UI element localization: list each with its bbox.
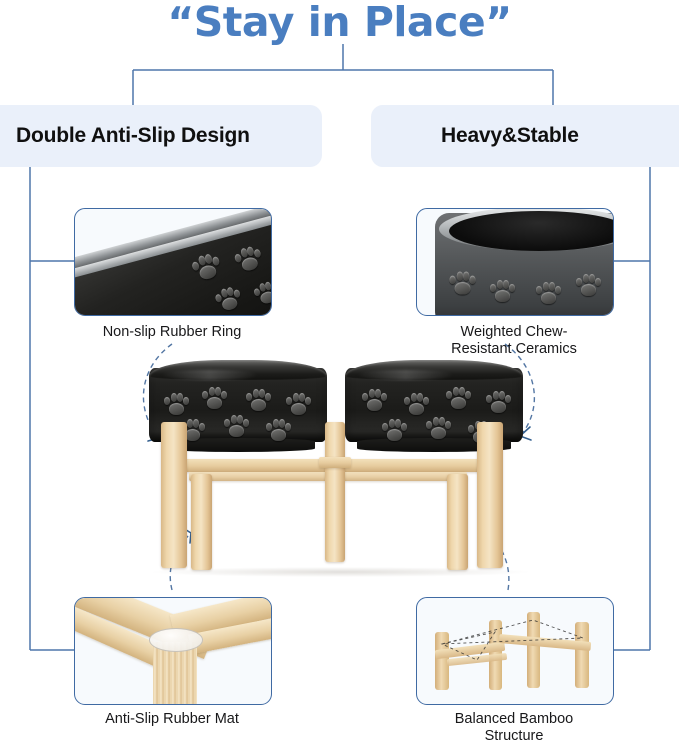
feature-caption-anti-slip-rubber-mat: Anti-Slip Rubber Mat	[54, 711, 290, 728]
rubber-foot-pad-image	[75, 598, 271, 704]
feature-thumbnail-balanced-bamboo-structure[interactable]	[416, 597, 614, 705]
bamboo-structure-image	[417, 598, 613, 704]
infographic-canvas: “Stay in Place”	[0, 0, 679, 742]
category-pill-heavy-and-stable[interactable]: Heavy&Stable	[371, 105, 679, 167]
balance-guide-lines	[417, 598, 613, 704]
caption-line-2: Structure	[396, 728, 632, 745]
feature-thumbnail-anti-slip-rubber-mat[interactable]	[74, 597, 272, 705]
feature-caption-balanced-bamboo-structure: Balanced Bamboo Structure	[396, 711, 632, 745]
category-pill-label: Double Anti-Slip Design	[0, 124, 250, 148]
feature-thumbnail-non-slip-rubber-ring[interactable]	[74, 208, 272, 316]
category-pill-double-anti-slip-design[interactable]: Double Anti-Slip Design	[0, 105, 322, 167]
caption-line-1: Balanced Bamboo	[396, 711, 632, 728]
feature-caption-weighted-chew-resistant-ceramics: Weighted Chew- Resistant Ceramics	[396, 324, 632, 358]
caption-line-1: Weighted Chew-	[396, 324, 632, 341]
bowl-interior-image	[417, 209, 613, 315]
hero-product-image	[133, 358, 548, 573]
caption-line-2: Resistant Ceramics	[396, 341, 632, 358]
bowl-underside-image	[75, 209, 271, 315]
category-pill-label: Heavy&Stable	[371, 124, 579, 148]
page-title: “Stay in Place”	[0, 0, 679, 46]
feature-thumbnail-weighted-chew-resistant-ceramics[interactable]	[416, 208, 614, 316]
feature-caption-non-slip-rubber-ring: Non-slip Rubber Ring	[54, 324, 290, 341]
